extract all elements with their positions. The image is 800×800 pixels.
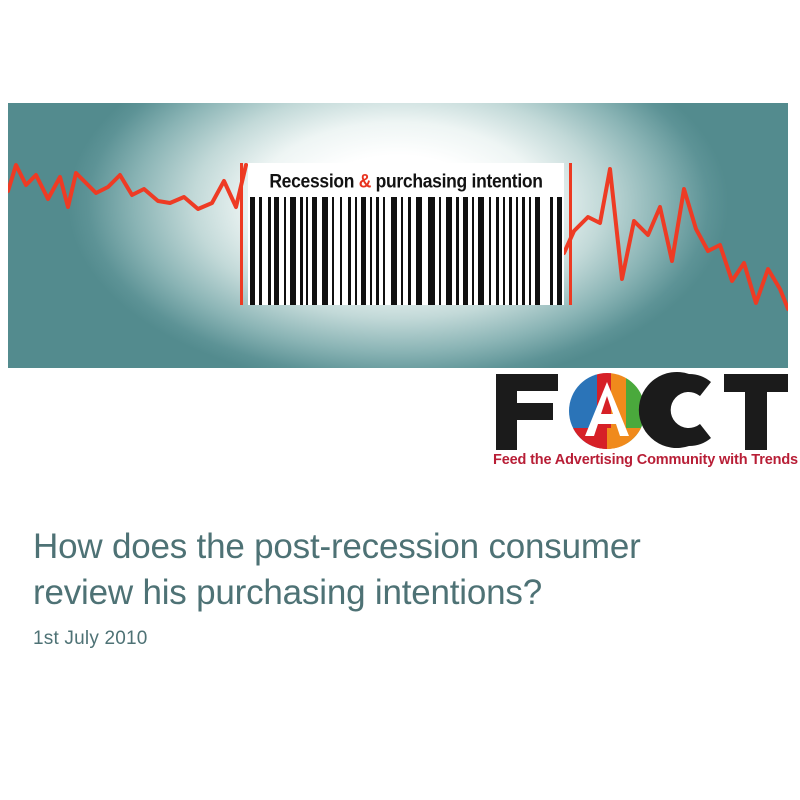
barcode-bar: [535, 197, 540, 305]
a-segment-lower-orange: [607, 428, 648, 450]
barcode-graphic: Recession & purchasing intention: [248, 163, 564, 305]
barcode-edge-line-right: [569, 163, 572, 305]
barcode-bar: [306, 197, 308, 305]
barcode-guard-left: [250, 197, 255, 305]
barcode-bar: [355, 197, 357, 305]
barcode-bar: [522, 197, 525, 305]
barcode-bar: [340, 197, 342, 305]
barcode-bar: [408, 197, 411, 305]
logo-letter-a-mark: [569, 373, 648, 450]
barcode-title: Recession & purchasing intention: [269, 169, 542, 193]
page-title: How does the post-recession consumer rev…: [33, 524, 763, 616]
barcode-bar: [332, 197, 334, 305]
recession-banner: Recession & purchasing intention: [8, 103, 788, 368]
barcode-bar: [284, 197, 286, 305]
barcode-bar: [446, 197, 452, 305]
slide-root: Recession & purchasing intention: [0, 0, 800, 800]
fact-wordmark: [492, 370, 792, 450]
barcode-bar: [391, 197, 397, 305]
barcode-bar: [416, 197, 422, 305]
banner-artwork: Recession & purchasing intention: [8, 103, 788, 368]
logo-letter-c-gap: [697, 398, 727, 422]
barcode-title-row: Recession & purchasing intention: [248, 163, 564, 199]
barcode-bar: [370, 197, 372, 305]
barcode-title-suffix: purchasing intention: [371, 169, 543, 191]
barcode-bar: [300, 197, 303, 305]
trend-line-left: [8, 165, 246, 209]
barcode-title-prefix: Recession: [269, 169, 358, 191]
barcode-bar: [509, 197, 512, 305]
barcode-bar: [489, 197, 491, 305]
barcode-bar: [383, 197, 385, 305]
barcode-bar: [428, 197, 435, 305]
barcode-bar: [290, 197, 296, 305]
page-title-line-1: How does the post-recession consumer: [33, 524, 763, 570]
barcode-bar: [463, 197, 468, 305]
logo-letter-f: [496, 374, 558, 450]
logo-tagline: Feed the Advertising Community with Tren…: [493, 452, 791, 468]
barcode-bar: [348, 197, 351, 305]
barcode-title-ampersand: &: [359, 169, 371, 191]
barcode-bar: [529, 197, 531, 305]
barcode-bar: [274, 197, 279, 305]
barcode-bar: [376, 197, 379, 305]
barcode-bar: [439, 197, 441, 305]
barcode-bar: [478, 197, 484, 305]
barcode-bar: [456, 197, 459, 305]
barcode-bar: [312, 197, 317, 305]
trend-line-right: [564, 169, 788, 309]
barcode-edge-line-left: [240, 163, 243, 305]
fact-logo: Feed the Advertising Community with Tren…: [492, 370, 792, 478]
barcode-guard-right-2: [550, 197, 553, 305]
presentation-date: 1st July 2010: [33, 628, 148, 650]
barcode-bar: [496, 197, 499, 305]
barcode-bar: [401, 197, 403, 305]
barcode-guard-right: [557, 197, 562, 305]
barcode-bar: [472, 197, 474, 305]
logo-letter-t: [724, 374, 788, 450]
barcode-bar: [268, 197, 271, 305]
page-title-line-2: review his purchasing intentions?: [33, 570, 763, 616]
barcode-bar: [516, 197, 518, 305]
barcode-bar: [503, 197, 505, 305]
barcode-bar: [322, 197, 328, 305]
barcode-bars: [248, 197, 564, 305]
barcode-bar: [361, 197, 366, 305]
barcode-guard-left-2: [259, 197, 262, 305]
